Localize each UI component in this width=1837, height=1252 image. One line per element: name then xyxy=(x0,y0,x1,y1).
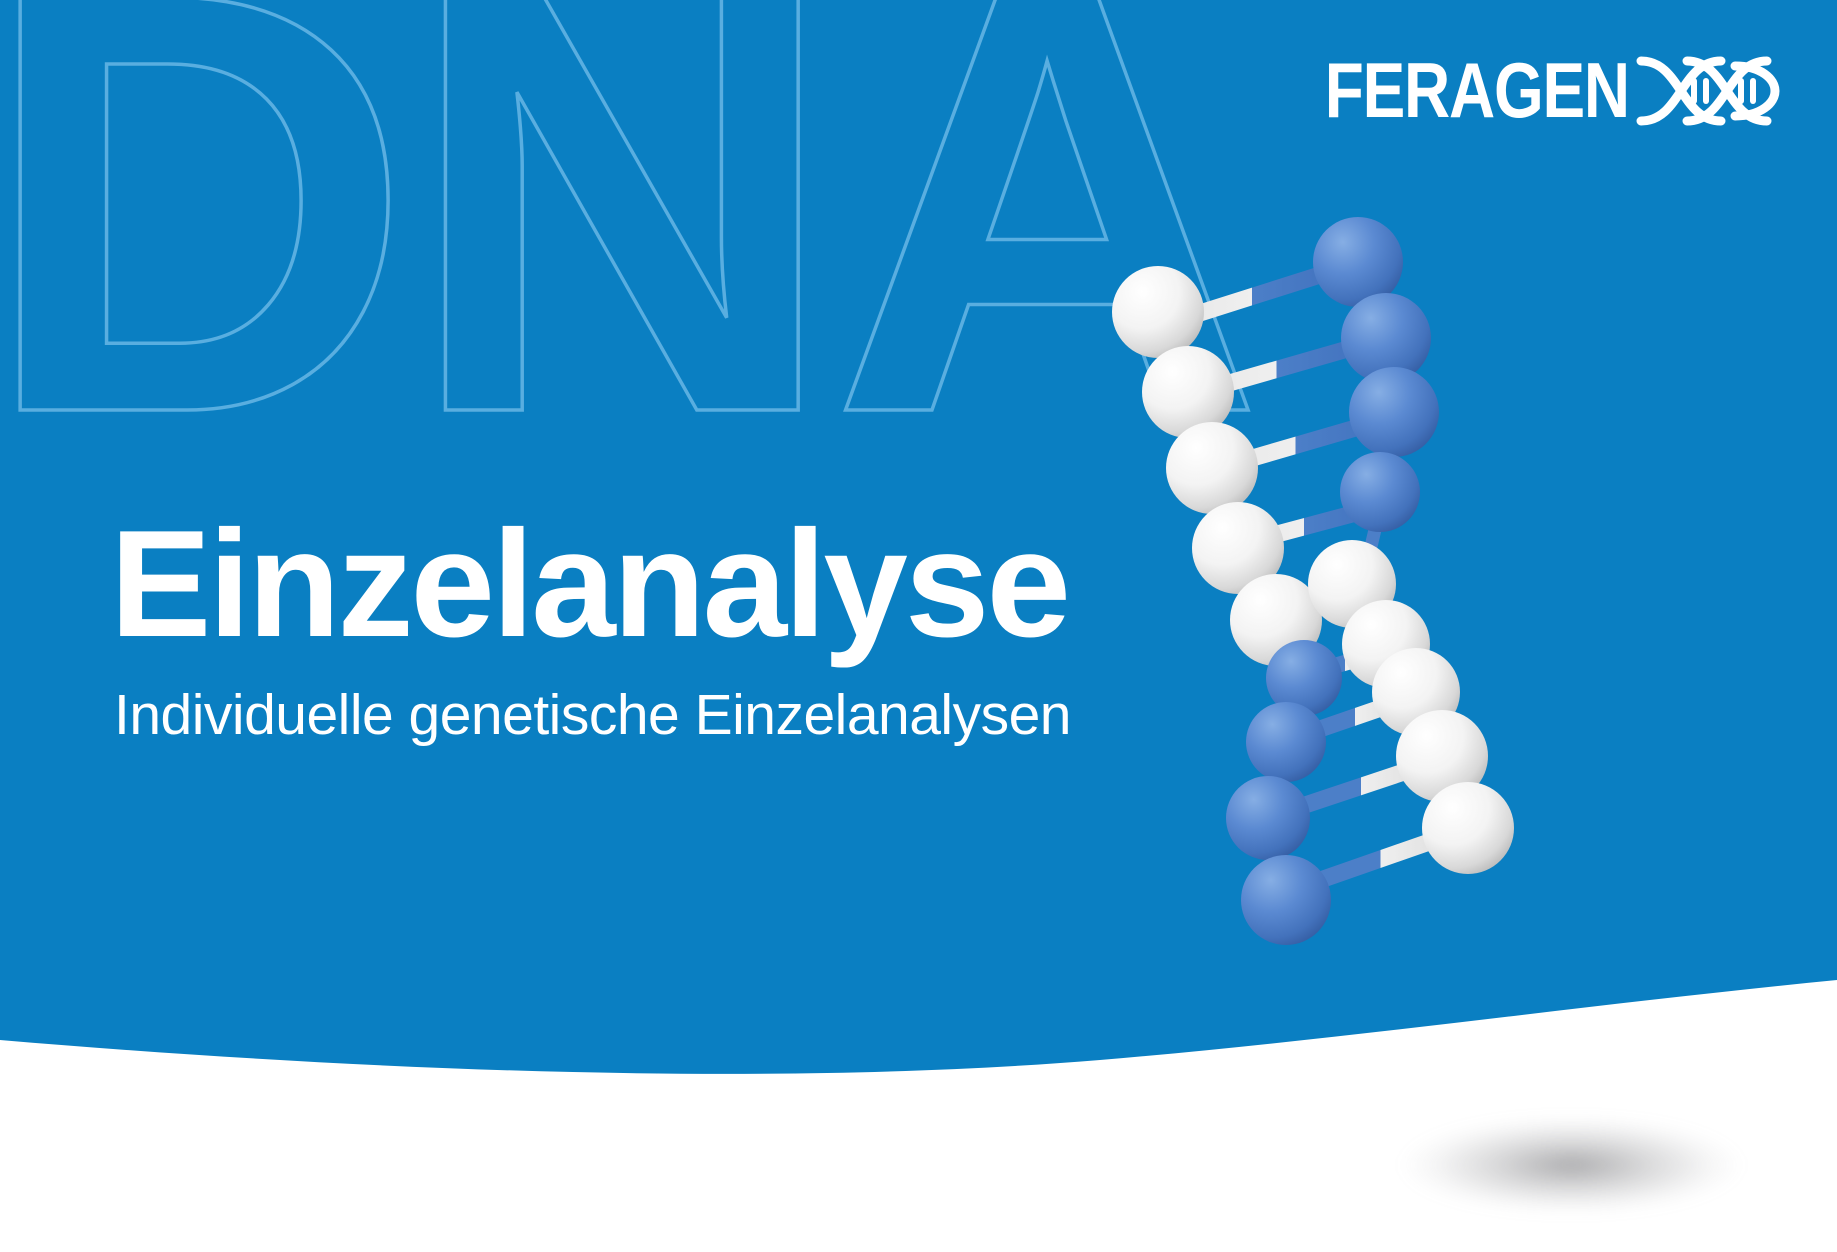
page-subtitle: Individuelle genetische Einzelanalysen xyxy=(114,683,1170,749)
dna-helix-icon xyxy=(1635,52,1785,130)
page-title: Einzelanalyse xyxy=(110,505,1170,665)
hero-copy-block: Einzelanalyse Individuelle genetische Ei… xyxy=(110,505,1170,748)
feragen-wordmark: FERAGEN xyxy=(1325,57,1629,124)
dna-model-shadow xyxy=(1395,1105,1815,1225)
dna-sphere-group-right xyxy=(1308,217,1514,874)
feragen-logo[interactable]: FERAGEN xyxy=(1258,52,1785,130)
dna-double-helix-3d-model xyxy=(1090,200,1650,980)
dna-einzelanalyse-banner: DNA FERAGEN xyxy=(0,0,1837,1252)
